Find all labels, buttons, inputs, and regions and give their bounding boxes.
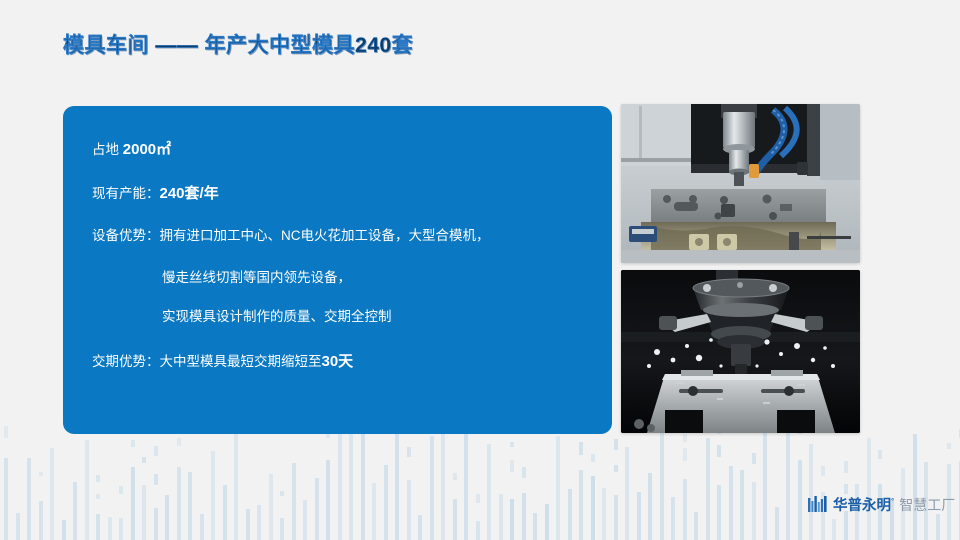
slide-canvas: 模具车间 —— 年产大中型模具240套 占地 2000㎡ 现有产能：240套/年… — [0, 0, 960, 540]
panel-line-equipment-3: 实现模具设计制作的质量、交期全控制 — [162, 310, 392, 324]
logo-sub-text: 智慧工厂 — [899, 495, 955, 515]
panel-line-area-value: 2000㎡ — [123, 141, 171, 158]
panel-line-area: 占地 2000㎡ — [92, 142, 171, 157]
cnc-drilling-head-photo — [621, 270, 860, 433]
company-logo: 华普永明° 智慧工厂 — [808, 494, 955, 515]
logo-brand-name: 华普永明 — [833, 498, 891, 514]
bar-chart-m-mark-icon — [808, 496, 828, 514]
panel-line-equipment-1: 设备优势：拥有进口加工中心、NC电火花加工设备，大型合模机， — [92, 229, 490, 243]
panel-line-leadtime: 交期优势：大中型模具最短交期缩短至30天 — [92, 354, 353, 369]
panel-line-capacity: 现有产能：240套/年 — [92, 186, 219, 201]
panel-line-equipment-3-text: 实现模具设计制作的质量、交期全控制 — [162, 309, 392, 324]
panel-line-leadtime-value: 30天 — [322, 353, 354, 370]
panel-line-leadtime-text: 交期优势：大中型模具最短交期缩短至 — [92, 354, 322, 369]
info-panel: 占地 2000㎡ 现有产能：240套/年 设备优势：拥有进口加工中心、NC电火花… — [63, 106, 612, 434]
panel-line-area-text: 占地 — [92, 142, 123, 157]
page-title: 模具车间 —— 年产大中型模具240套 — [63, 29, 413, 59]
panel-line-equipment-2: 慢走丝线切割等国内领先设备， — [162, 271, 351, 285]
panel-line-capacity-value: 240套/年 — [160, 185, 219, 202]
decorative-bar-pattern — [0, 418, 960, 540]
panel-line-equipment-1-text: 设备优势：拥有进口加工中心、NC电火花加工设备，大型合模机， — [92, 228, 490, 243]
logo-degree-mark: ° — [891, 497, 894, 506]
cnc-drilling-head-illustration — [621, 270, 860, 433]
panel-line-capacity-text: 现有产能： — [92, 186, 160, 201]
cnc-machining-center-illustration — [621, 104, 860, 263]
cnc-machining-center-photo — [621, 104, 860, 263]
logo-brand-text: 华普永明° — [833, 494, 894, 515]
panel-line-equipment-2-text: 慢走丝线切割等国内领先设备， — [162, 270, 351, 285]
